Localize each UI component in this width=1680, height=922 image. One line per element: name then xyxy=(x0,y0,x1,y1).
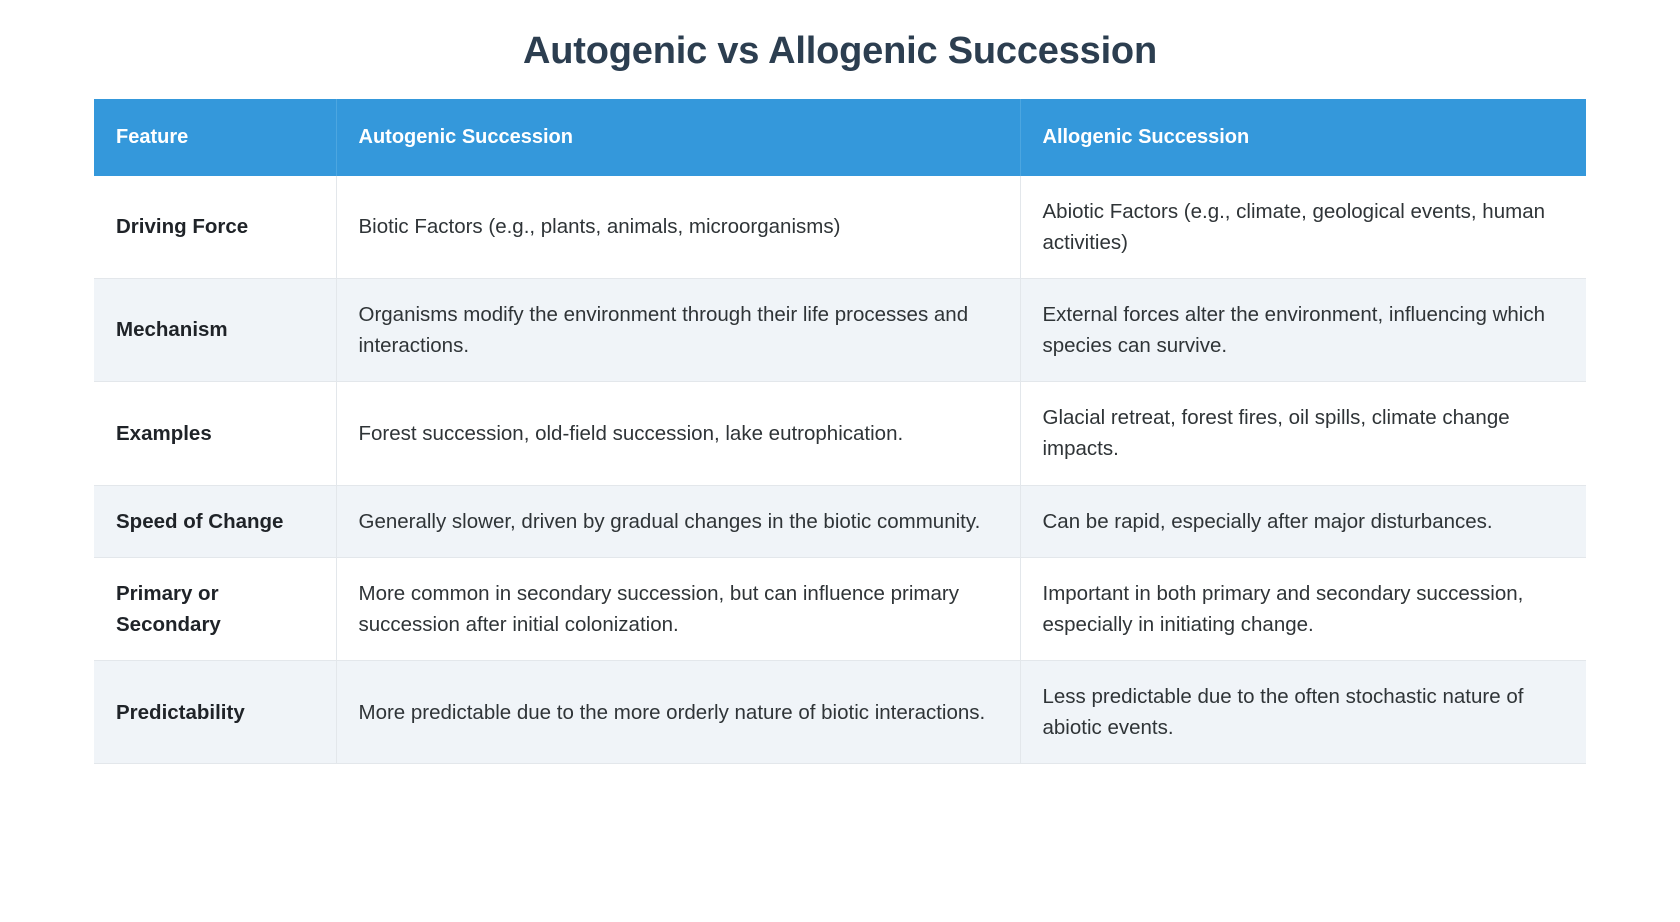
cell-feature: Mechanism xyxy=(94,278,336,381)
comparison-table-wrapper: Feature Autogenic Succession Allogenic S… xyxy=(94,99,1586,765)
column-header-allogenic: Allogenic Succession xyxy=(1020,99,1586,176)
table-header: Feature Autogenic Succession Allogenic S… xyxy=(94,99,1586,176)
page-root: Autogenic vs Allogenic Succession Featur… xyxy=(0,0,1680,922)
cell-feature: Primary or Secondary xyxy=(94,557,336,660)
table-row: Predictability More predictable due to t… xyxy=(94,661,1586,764)
cell-feature: Speed of Change xyxy=(94,485,336,557)
cell-autogenic: Generally slower, driven by gradual chan… xyxy=(336,485,1020,557)
table-body: Driving Force Biotic Factors (e.g., plan… xyxy=(94,176,1586,764)
table-row: Examples Forest succession, old-field su… xyxy=(94,382,1586,485)
cell-allogenic: Abiotic Factors (e.g., climate, geologic… xyxy=(1020,176,1586,279)
page-title: Autogenic vs Allogenic Succession xyxy=(0,0,1680,75)
table-row: Primary or Secondary More common in seco… xyxy=(94,557,1586,660)
cell-autogenic: Organisms modify the environment through… xyxy=(336,278,1020,381)
cell-allogenic: Less predictable due to the often stocha… xyxy=(1020,661,1586,764)
cell-allogenic: Can be rapid, especially after major dis… xyxy=(1020,485,1586,557)
cell-allogenic: Glacial retreat, forest fires, oil spill… xyxy=(1020,382,1586,485)
table-row: Speed of Change Generally slower, driven… xyxy=(94,485,1586,557)
table-row: Mechanism Organisms modify the environme… xyxy=(94,278,1586,381)
cell-feature: Predictability xyxy=(94,661,336,764)
cell-autogenic: More common in secondary succession, but… xyxy=(336,557,1020,660)
table-header-row: Feature Autogenic Succession Allogenic S… xyxy=(94,99,1586,176)
cell-autogenic: Biotic Factors (e.g., plants, animals, m… xyxy=(336,176,1020,279)
cell-allogenic: Important in both primary and secondary … xyxy=(1020,557,1586,660)
cell-feature: Driving Force xyxy=(94,176,336,279)
cell-feature: Examples xyxy=(94,382,336,485)
cell-autogenic: Forest succession, old-field succession,… xyxy=(336,382,1020,485)
cell-allogenic: External forces alter the environment, i… xyxy=(1020,278,1586,381)
comparison-table: Feature Autogenic Succession Allogenic S… xyxy=(94,99,1586,765)
table-row: Driving Force Biotic Factors (e.g., plan… xyxy=(94,176,1586,279)
cell-autogenic: More predictable due to the more orderly… xyxy=(336,661,1020,764)
column-header-autogenic: Autogenic Succession xyxy=(336,99,1020,176)
column-header-feature: Feature xyxy=(94,99,336,176)
